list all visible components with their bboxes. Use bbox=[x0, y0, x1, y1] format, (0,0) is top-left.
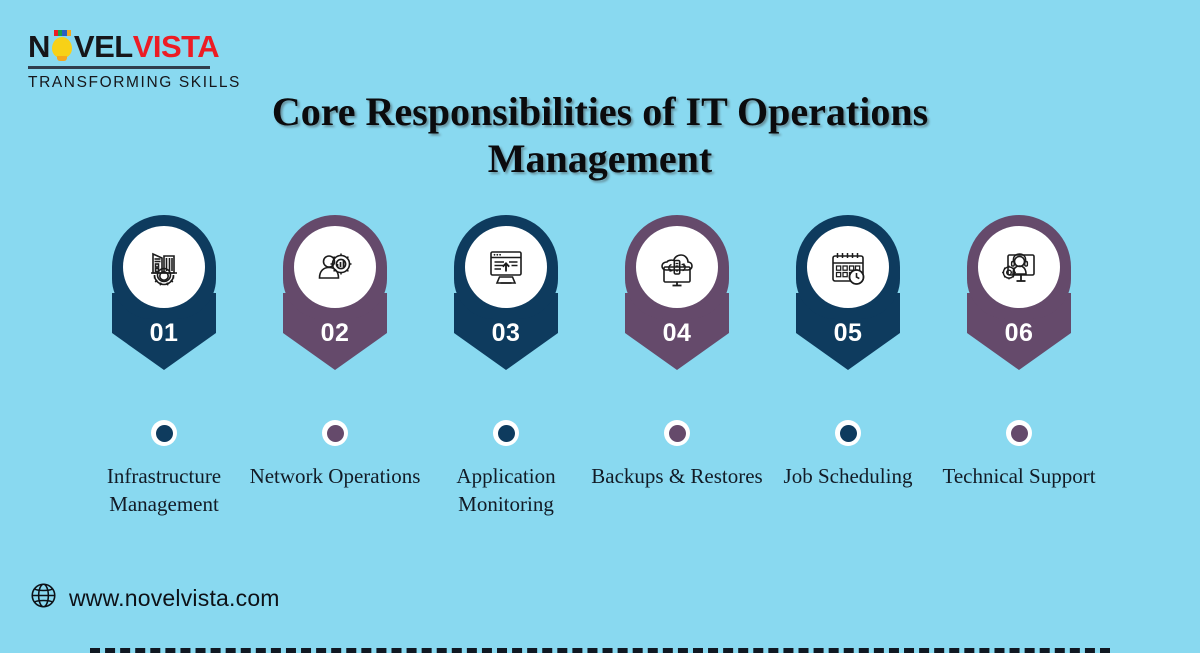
lightbulb-icon bbox=[50, 30, 74, 62]
timeline-step-04[interactable]: 04 Backups & Restores bbox=[592, 215, 762, 370]
step-label-02: Network Operations bbox=[242, 463, 428, 491]
logo-text-vista: VISTA bbox=[133, 31, 220, 62]
logo-text-vel: VEL bbox=[74, 31, 133, 62]
step-label-04: Backups & Restores bbox=[584, 463, 770, 491]
timeline-dot-01[interactable] bbox=[151, 420, 177, 446]
icon-circle-06 bbox=[978, 226, 1060, 308]
icon-circle-04 bbox=[636, 226, 718, 308]
timeline-step-03[interactable]: 03 Application Monitoring bbox=[421, 215, 591, 370]
logo-text-n: N bbox=[28, 31, 50, 62]
pin-number-06: 06 bbox=[967, 319, 1071, 348]
timeline-dot-05[interactable] bbox=[835, 420, 861, 446]
brand-logo[interactable]: N VEL VISTA TRANSFORMING SKILLS bbox=[28, 28, 228, 92]
pin-marker-06[interactable]: 06 bbox=[967, 215, 1071, 370]
icon-circle-03 bbox=[465, 226, 547, 308]
timeline-step-01[interactable]: 01 Infrastructure Management bbox=[79, 215, 249, 370]
icon-circle-05 bbox=[807, 226, 889, 308]
pin-number-05: 05 bbox=[796, 319, 900, 348]
cloud-backup-monitor-icon bbox=[653, 243, 701, 291]
monitor-upload-icon bbox=[482, 243, 530, 291]
page-title: Core Responsibilities of IT Operations M… bbox=[180, 88, 1020, 182]
lightbulb-color-dots bbox=[54, 30, 71, 36]
timeline-step-06[interactable]: 06 Technical Support bbox=[934, 215, 1104, 370]
pin-marker-04[interactable]: 04 bbox=[625, 215, 729, 370]
pin-number-01: 01 bbox=[112, 319, 216, 348]
step-label-01: Infrastructure Management bbox=[71, 463, 257, 518]
logo-divider bbox=[28, 66, 210, 69]
step-label-03: Application Monitoring bbox=[413, 463, 599, 518]
globe-icon bbox=[30, 582, 57, 614]
support-agent-monitor-gear-icon bbox=[995, 243, 1043, 291]
pin-marker-03[interactable]: 03 bbox=[454, 215, 558, 370]
timeline-infographic: 01 Infrastructure Management bbox=[0, 215, 1200, 545]
pin-number-04: 04 bbox=[625, 319, 729, 348]
pin-marker-02[interactable]: 02 bbox=[283, 215, 387, 370]
logo-wordmark: N VEL VISTA bbox=[28, 28, 228, 62]
pin-number-02: 02 bbox=[283, 319, 387, 348]
timeline-dot-03[interactable] bbox=[493, 420, 519, 446]
user-gear-chart-icon bbox=[311, 243, 359, 291]
timeline-dot-02[interactable] bbox=[322, 420, 348, 446]
step-label-06: Technical Support bbox=[926, 463, 1112, 491]
icon-circle-01 bbox=[123, 226, 205, 308]
timeline-dot-04[interactable] bbox=[664, 420, 690, 446]
footer[interactable]: www.novelvista.com bbox=[30, 582, 280, 614]
building-gear-icon bbox=[140, 243, 188, 291]
timeline-dashed-line bbox=[90, 648, 1110, 653]
timeline-step-02[interactable]: 02 Network Operations bbox=[250, 215, 420, 370]
pin-number-03: 03 bbox=[454, 319, 558, 348]
footer-website-url[interactable]: www.novelvista.com bbox=[69, 585, 280, 612]
pin-marker-01[interactable]: 01 bbox=[112, 215, 216, 370]
timeline-dot-06[interactable] bbox=[1006, 420, 1032, 446]
timeline-step-05[interactable]: 05 Job Scheduling bbox=[763, 215, 933, 370]
icon-circle-02 bbox=[294, 226, 376, 308]
step-label-05: Job Scheduling bbox=[755, 463, 941, 491]
pin-marker-05[interactable]: 05 bbox=[796, 215, 900, 370]
calendar-clock-icon bbox=[824, 243, 872, 291]
